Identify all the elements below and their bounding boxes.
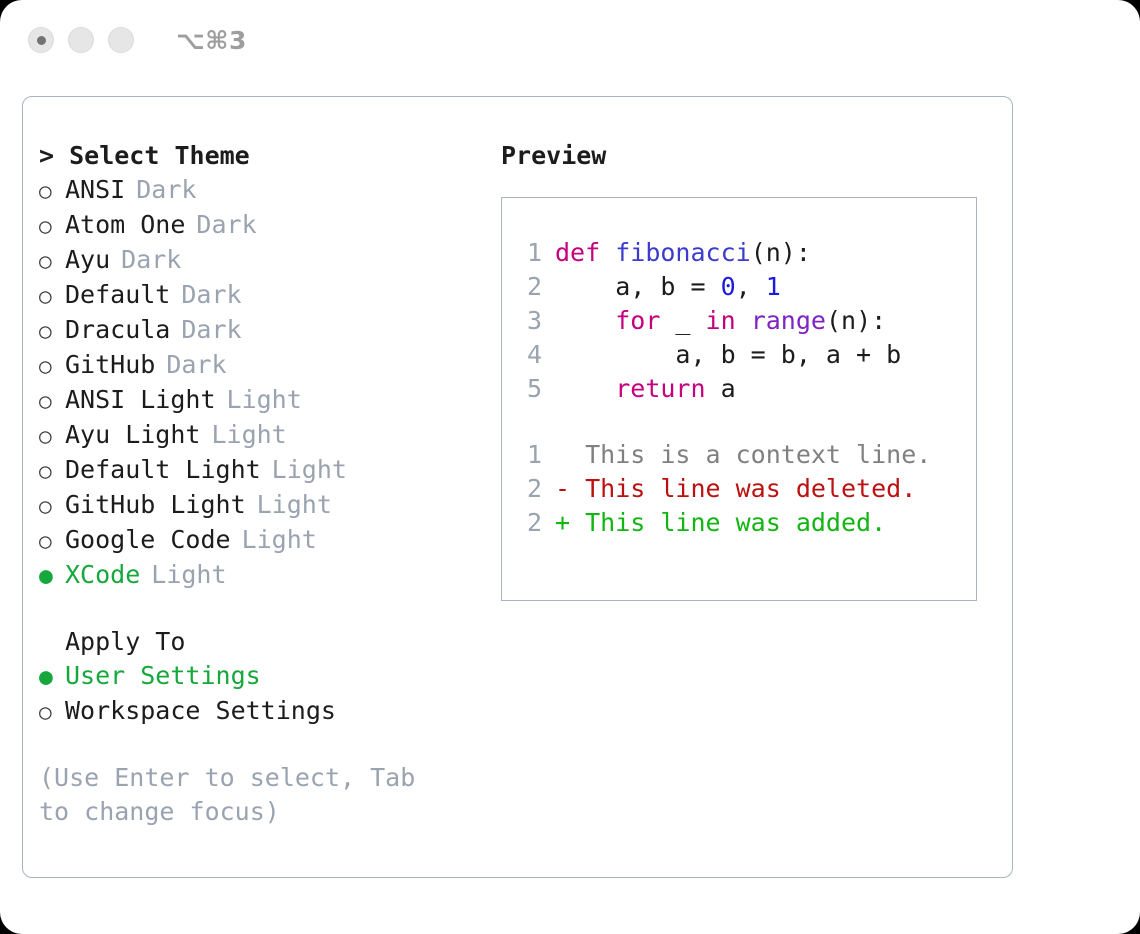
theme-variant-label: Light <box>227 383 302 417</box>
code-line-content: a, b = 0, 1 <box>555 270 781 304</box>
keyboard-hint-text: (Use Enter to select, Tab to change focu… <box>39 761 449 829</box>
theme-name-label: Dracula <box>65 313 170 347</box>
traffic-light-active-dot <box>37 36 46 45</box>
radio-unselected-icon: ○ <box>39 384 65 418</box>
code-token-plain <box>555 306 615 335</box>
theme-variant-label: Dark <box>166 348 226 382</box>
code-token-plain: , <box>736 272 766 301</box>
code-line: 4 a, b = b, a + b <box>502 338 976 372</box>
theme-name-label: Google Code <box>65 523 231 557</box>
code-line: 2 a, b = 0, 1 <box>502 270 976 304</box>
diff-line-text: This line was deleted. <box>570 472 916 506</box>
theme-name-label: XCode <box>65 558 140 592</box>
diff-line-number: 2 <box>516 472 542 506</box>
keyboard-shortcut-label: ⌥⌘3 <box>176 26 247 55</box>
radio-unselected-icon: ○ <box>39 695 65 729</box>
code-token-builtin: range <box>751 306 826 335</box>
diff-line-removed: 2- This line was deleted. <box>502 472 976 506</box>
code-line-content: a, b = b, a + b <box>555 338 901 372</box>
traffic-light-2[interactable] <box>68 27 94 53</box>
diff-line-added: 2+ This line was added. <box>502 506 976 540</box>
theme-variant-label: Dark <box>196 208 256 242</box>
theme-variant-label: Light <box>151 558 226 592</box>
theme-variant-label: Dark <box>136 173 196 207</box>
theme-list: ○ANSIDark○Atom OneDark○AyuDark○DefaultDa… <box>39 173 489 593</box>
theme-variant-label: Dark <box>181 313 241 347</box>
traffic-light-1[interactable] <box>28 27 54 53</box>
code-line: 3 for _ in range(n): <box>502 304 976 338</box>
code-line-content: return a <box>555 372 736 406</box>
code-token-keyword: in <box>706 306 736 335</box>
radio-unselected-icon: ○ <box>39 279 65 313</box>
theme-name-label: Default Light <box>65 453 261 487</box>
theme-name-label: Ayu <box>65 243 110 277</box>
theme-name-label: GitHub Light <box>65 488 246 522</box>
theme-name-label: Default <box>65 278 170 312</box>
preview-spacer <box>502 406 976 438</box>
select-theme-heading: > Select Theme <box>39 139 489 173</box>
theme-option-xcode[interactable]: ●XCodeLight <box>39 558 489 593</box>
radio-unselected-icon: ○ <box>39 524 65 558</box>
code-token-plain: (n): <box>826 306 886 335</box>
code-token-number: 0 <box>721 272 736 301</box>
code-line: 1def fibonacci(n): <box>502 236 976 270</box>
radio-unselected-icon: ○ <box>39 209 65 243</box>
code-line-content: def fibonacci(n): <box>555 236 811 270</box>
apply-to-heading: Apply To <box>39 625 489 659</box>
code-token-plain: _ <box>660 306 705 335</box>
theme-variant-label: Light <box>211 418 286 452</box>
apply-to-list: ●User Settings○Workspace Settings <box>39 659 489 729</box>
code-token-keyword: for <box>615 306 660 335</box>
code-token-plain <box>736 306 751 335</box>
diff-line-text: This line was added. <box>570 506 886 540</box>
theme-name-label: ANSI Light <box>65 383 216 417</box>
code-line-number: 1 <box>516 236 542 270</box>
theme-option-ayu[interactable]: ○AyuDark <box>39 243 489 278</box>
code-token-plain: a <box>706 374 736 403</box>
apply-to-section: Apply To ●User Settings○Workspace Settin… <box>39 625 489 729</box>
theme-name-label: GitHub <box>65 348 155 382</box>
theme-option-github[interactable]: ○GitHubDark <box>39 348 489 383</box>
diff-sign <box>555 438 570 472</box>
theme-variant-label: Light <box>242 523 317 557</box>
main-panel: > Select Theme ○ANSIDark○Atom OneDark○Ay… <box>22 96 1013 878</box>
code-token-plain: a, b = <box>555 272 721 301</box>
code-line-content: for _ in range(n): <box>555 304 886 338</box>
diff-line-number: 1 <box>516 438 542 472</box>
theme-name-label: ANSI <box>65 173 125 207</box>
code-line-number: 2 <box>516 270 542 304</box>
radio-unselected-icon: ○ <box>39 349 65 383</box>
theme-variant-label: Light <box>272 453 347 487</box>
radio-unselected-icon: ○ <box>39 174 65 208</box>
theme-option-default-light[interactable]: ○Default LightLight <box>39 453 489 488</box>
traffic-light-3[interactable] <box>108 27 134 53</box>
radio-selected-icon: ● <box>39 660 65 694</box>
code-line-number: 4 <box>516 338 542 372</box>
diff-preview-block: 1 This is a context line.2- This line wa… <box>502 438 976 540</box>
theme-name-label: Atom One <box>65 208 185 242</box>
theme-option-dracula[interactable]: ○DraculaDark <box>39 313 489 348</box>
app-window: ⌥⌘3 > Select Theme ○ANSIDark○Atom OneDar… <box>0 0 1140 934</box>
radio-unselected-icon: ○ <box>39 454 65 488</box>
diff-line-text: This is a context line. <box>570 438 931 472</box>
theme-option-ansi-light[interactable]: ○ANSI LightLight <box>39 383 489 418</box>
diff-sign: - <box>555 472 570 506</box>
radio-selected-icon: ● <box>39 559 65 593</box>
theme-variant-label: Dark <box>181 278 241 312</box>
preview-box: 1def fibonacci(n):2 a, b = 0, 13 for _ i… <box>501 197 977 601</box>
theme-option-ayu-light[interactable]: ○Ayu LightLight <box>39 418 489 453</box>
theme-option-ansi[interactable]: ○ANSIDark <box>39 173 489 208</box>
code-line-number: 3 <box>516 304 542 338</box>
theme-variant-label: Light <box>257 488 332 522</box>
code-token-number: 1 <box>766 272 781 301</box>
diff-line-number: 2 <box>516 506 542 540</box>
code-token-plain: (n): <box>751 238 811 267</box>
code-token-keyword: return <box>615 374 705 403</box>
theme-variant-label: Dark <box>121 243 181 277</box>
code-line: 5 return a <box>502 372 976 406</box>
apply-to-label: Workspace Settings <box>65 694 336 728</box>
theme-selector-column: > Select Theme ○ANSIDark○Atom OneDark○Ay… <box>39 139 489 829</box>
radio-unselected-icon: ○ <box>39 244 65 278</box>
diff-sign: + <box>555 506 570 540</box>
apply-to-label: User Settings <box>65 659 261 693</box>
theme-option-default[interactable]: ○DefaultDark <box>39 278 489 313</box>
code-token-plain: a, b = b, a + b <box>555 340 901 369</box>
radio-unselected-icon: ○ <box>39 419 65 453</box>
radio-unselected-icon: ○ <box>39 489 65 523</box>
preview-heading: Preview <box>501 139 991 173</box>
diff-line-context: 1 This is a context line. <box>502 438 976 472</box>
preview-column: Preview 1def fibonacci(n):2 a, b = 0, 13… <box>501 139 991 601</box>
code-line-number: 5 <box>516 372 542 406</box>
apply-to-option-user-settings[interactable]: ●User Settings <box>39 659 489 694</box>
theme-option-google-code[interactable]: ○Google CodeLight <box>39 523 489 558</box>
apply-to-option-workspace-settings[interactable]: ○Workspace Settings <box>39 694 489 729</box>
code-token-function: fibonacci <box>615 238 750 267</box>
code-preview-block: 1def fibonacci(n):2 a, b = 0, 13 for _ i… <box>502 236 976 406</box>
code-token-plain <box>555 374 615 403</box>
theme-option-github-light[interactable]: ○GitHub LightLight <box>39 488 489 523</box>
theme-option-atom-one[interactable]: ○Atom OneDark <box>39 208 489 243</box>
title-bar: ⌥⌘3 <box>0 0 1140 80</box>
theme-name-label: Ayu Light <box>65 418 200 452</box>
radio-unselected-icon: ○ <box>39 314 65 348</box>
code-token-keyword: def <box>555 238 615 267</box>
